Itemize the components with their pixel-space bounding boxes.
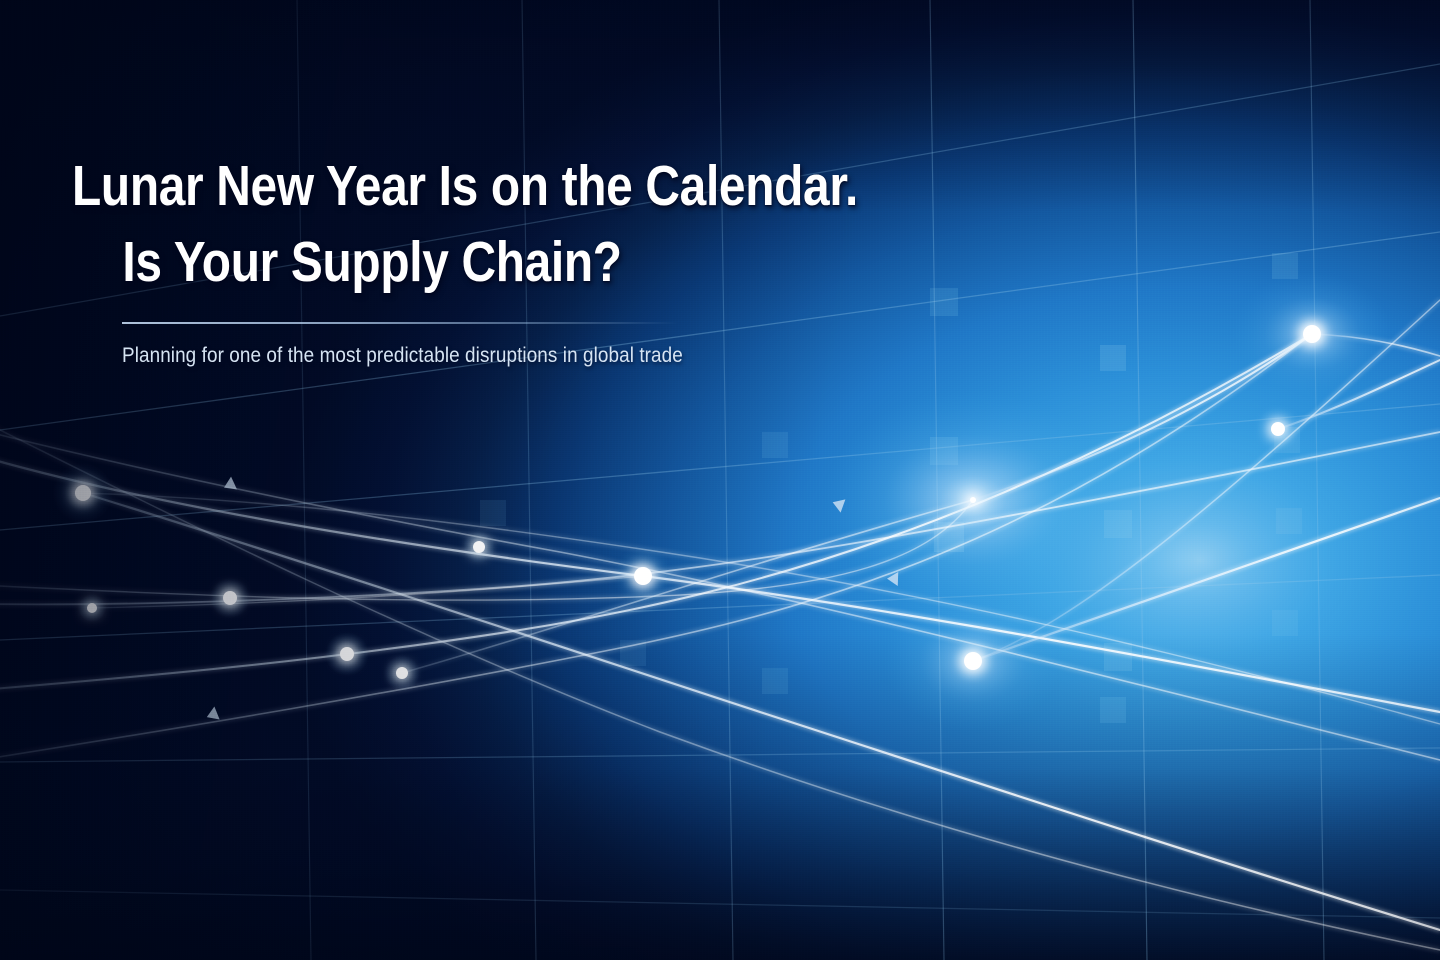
hero-divider-rule (122, 322, 678, 324)
background-vignette (0, 0, 1440, 960)
hero-subheadline: Planning for one of the most predictable… (122, 344, 959, 368)
hero-headline-line-1: Lunar New Year Is on the Calendar. (72, 148, 895, 224)
hero-headline-line-2: Is Your Supply Chain? (72, 224, 895, 300)
hero-text-block: Lunar New Year Is on the Calendar. Is Yo… (72, 148, 1052, 389)
hero-banner: Lunar New Year Is on the Calendar. Is Yo… (0, 0, 1440, 960)
